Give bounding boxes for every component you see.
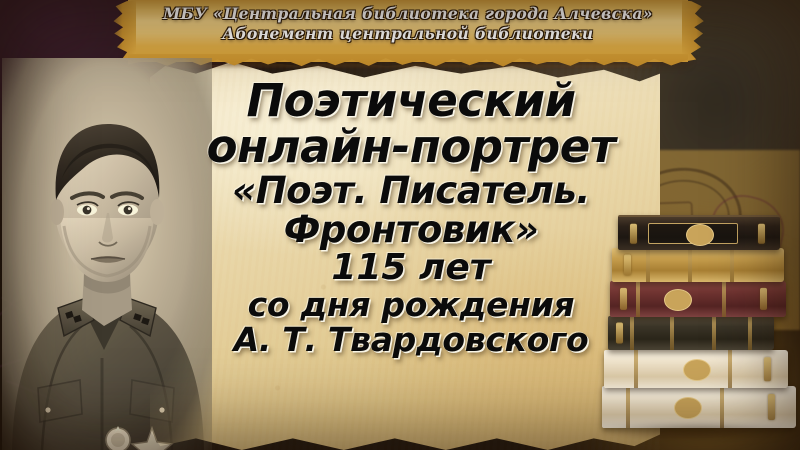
- title-line-3: «Поэт. Писатель.: [172, 171, 650, 210]
- book-gilded: [612, 248, 784, 282]
- title-line-7: А. Т. Твардовского: [172, 323, 650, 358]
- title-line-5: 115 лет: [172, 249, 650, 288]
- title-line-6: со дня рождения: [172, 288, 650, 323]
- organization-name: МБУ «Центральная библиотека города Алчев…: [128, 4, 688, 24]
- book-olive: [608, 316, 774, 350]
- title-line-4: Фронтовик»: [172, 210, 650, 249]
- title-line-1: Поэтический: [172, 78, 650, 124]
- page-title: Поэтический онлайн-портрет «Поэт. Писате…: [172, 78, 650, 358]
- book-maroon: [610, 281, 786, 317]
- book-cream: [604, 350, 788, 388]
- organization-heading: МБУ «Центральная библиотека города Алчев…: [128, 4, 688, 44]
- book-dark-top: [618, 215, 780, 250]
- book-stack: [602, 204, 798, 450]
- book-stack-shadow: [602, 422, 798, 442]
- poster-canvas: МБУ «Центральная библиотека города Алчев…: [0, 0, 800, 450]
- department-name: Абонемент центральной библиотеки: [128, 24, 688, 44]
- title-line-2: онлайн-портрет: [172, 124, 650, 170]
